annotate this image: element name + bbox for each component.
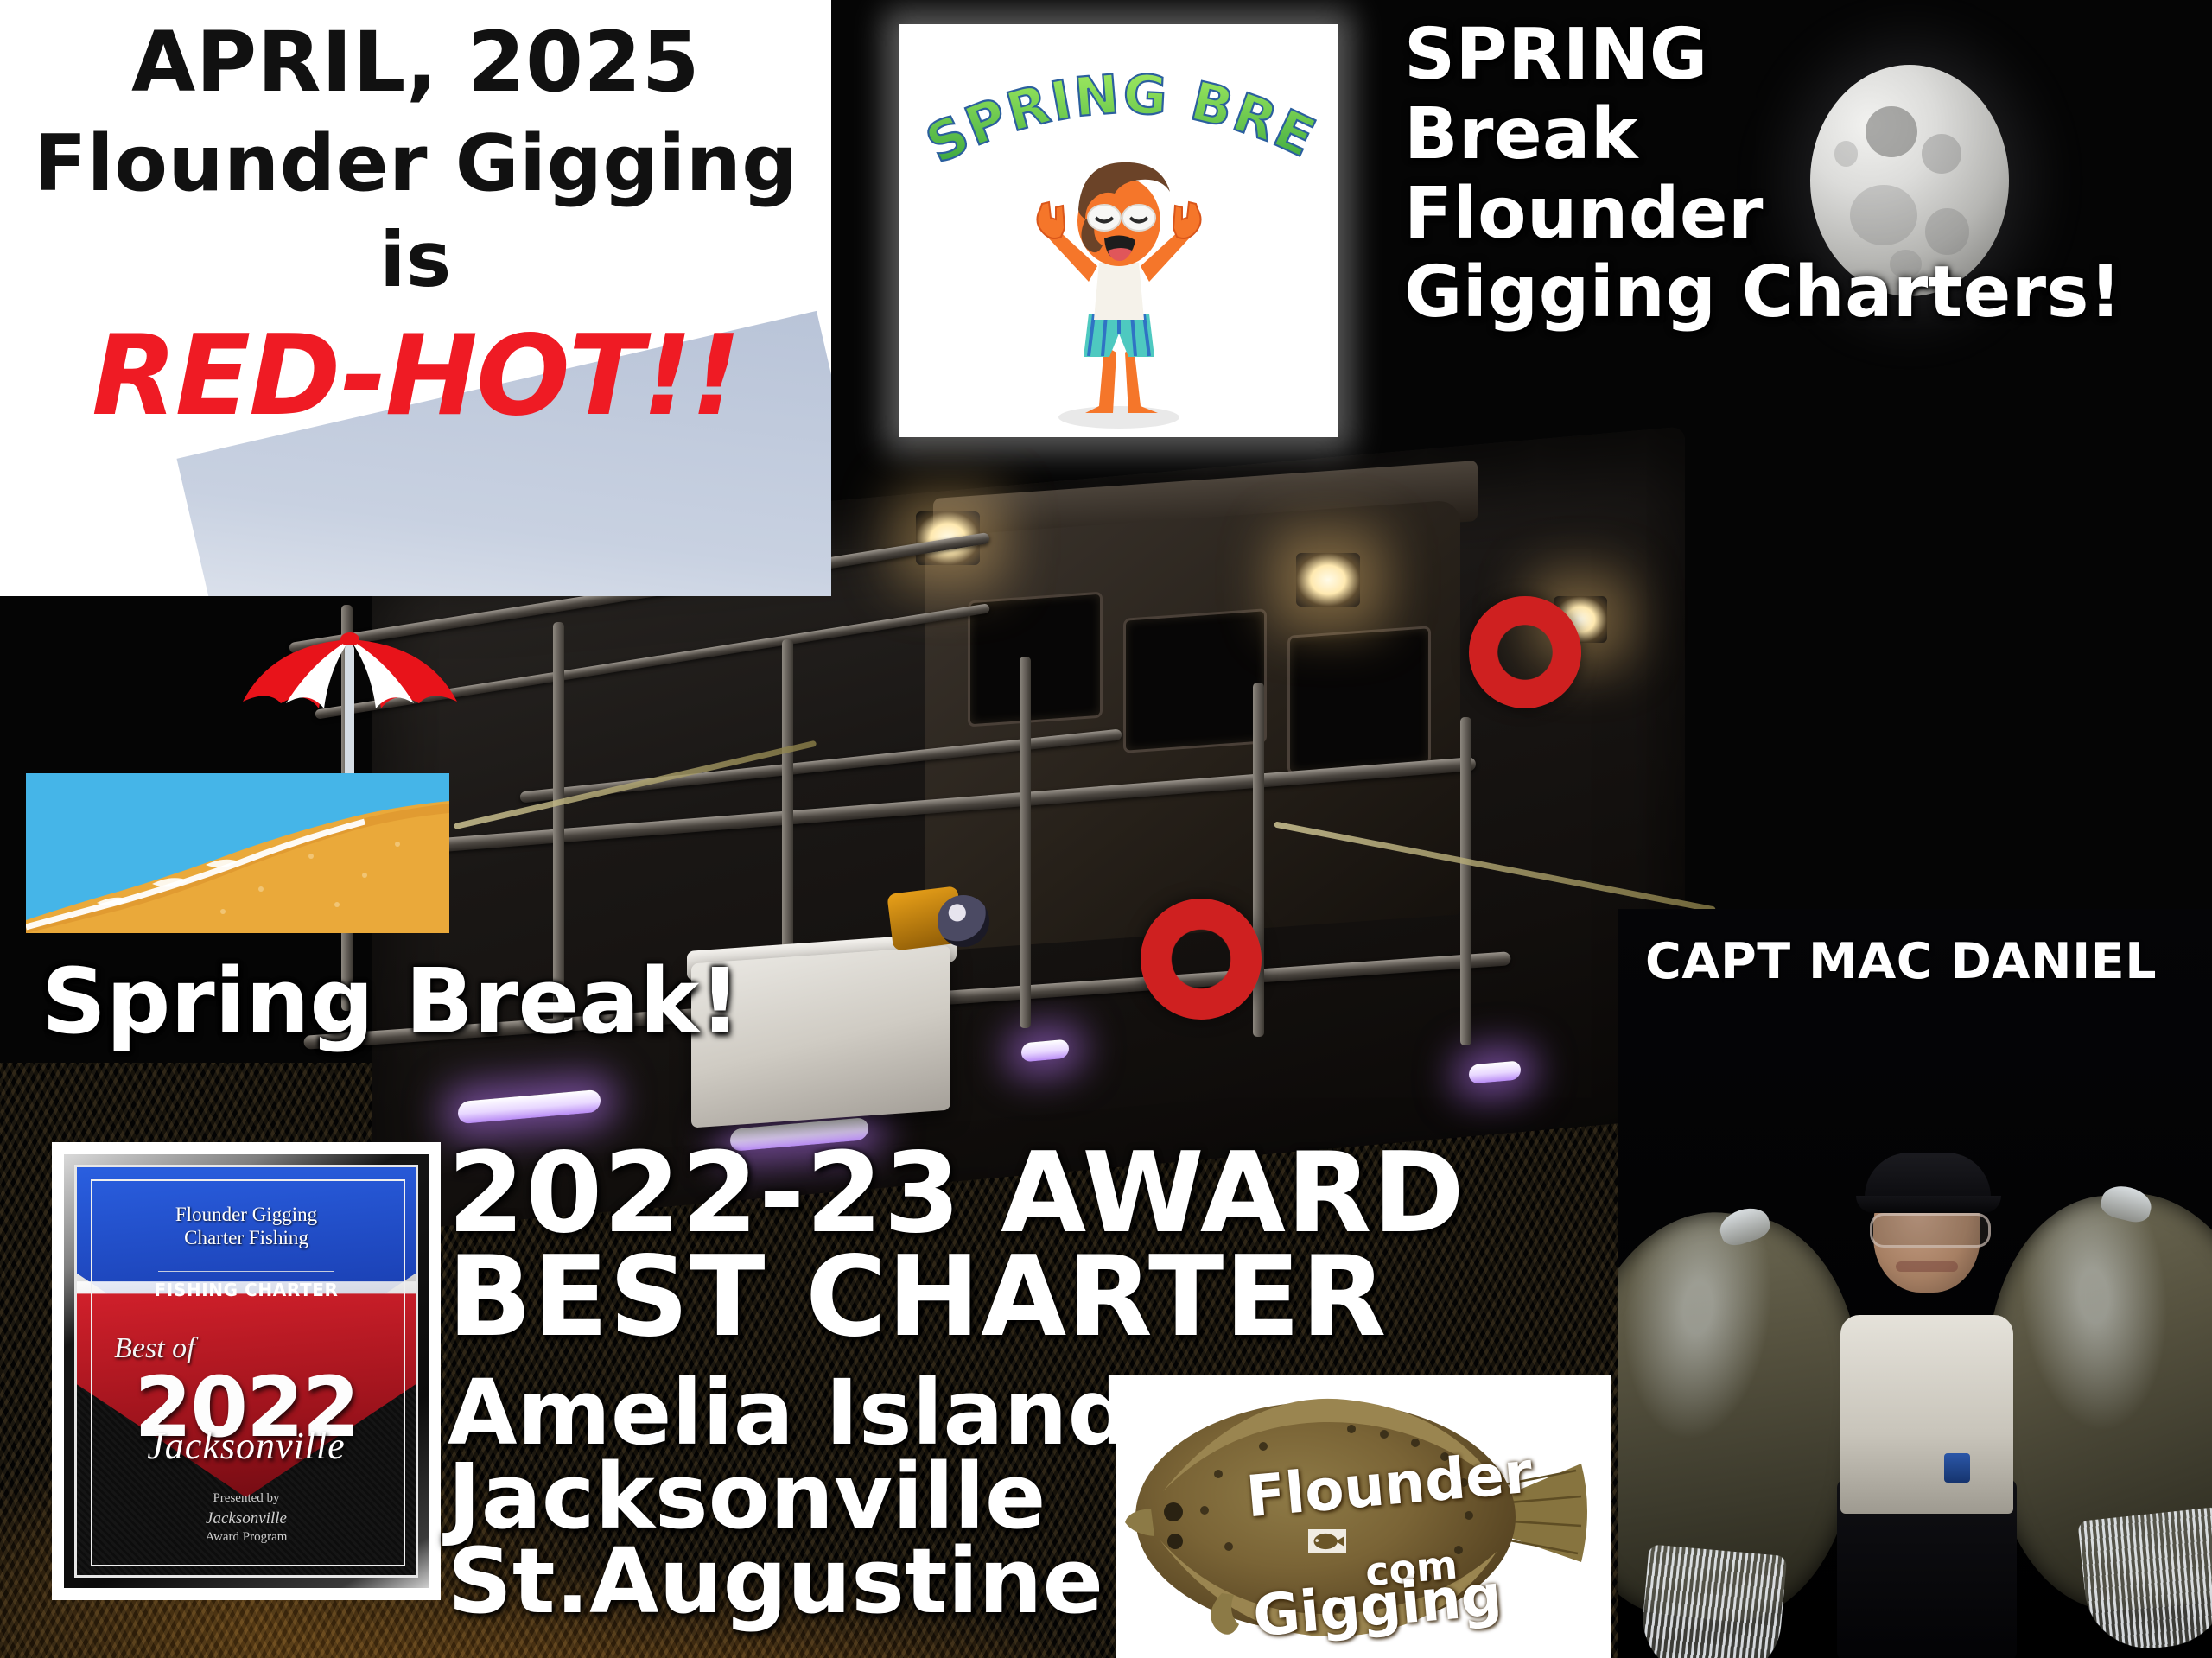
rail-post: [1460, 717, 1471, 1045]
captain-smile: [1896, 1261, 1958, 1272]
spring-break-clipart-box: SPRING BREAK: [899, 24, 1338, 437]
flounder-gigging-logo[interactable]: Flounder com Gigging: [1116, 1375, 1611, 1658]
headline-line-2: Break: [1404, 95, 2190, 175]
bottom-headline-line-2: BEST CHARTER: [448, 1246, 1675, 1350]
award-plaque: Flounder Gigging Charter Fishing FISHING…: [52, 1142, 441, 1600]
plaque-presented-by: Presented by Jacksonville Award Program: [77, 1490, 416, 1547]
fishing-reel-spool: [938, 895, 989, 947]
captain-shirt: [1840, 1315, 2013, 1514]
captain-shirt-logo: [1944, 1453, 1970, 1483]
plaque-presented-city: Jacksonville: [77, 1508, 416, 1529]
cabin-window: [1287, 626, 1431, 775]
life-ring: [1141, 899, 1262, 1020]
plaque-face: Flounder Gigging Charter Fishing FISHING…: [74, 1165, 418, 1578]
plaque-title-line-2: Charter Fishing: [77, 1227, 416, 1250]
beach-emoji-icon: [26, 773, 449, 933]
rail-post: [1020, 657, 1031, 1028]
headline-line-4: Gigging Charters!: [1404, 253, 2190, 333]
cabin-window: [1123, 608, 1267, 753]
announcement-panel: APRIL, 2025 Flounder Gigging is RED-HOT!…: [0, 0, 831, 596]
plaque-divider: [158, 1271, 334, 1272]
life-ring: [1469, 596, 1581, 708]
announcement-line-4-red-hot: RED-HOT!!: [22, 321, 809, 434]
announcement-line-1: APRIL, 2025: [22, 21, 809, 105]
bottom-headline-line-1: 2022-23 AWARD: [448, 1142, 1675, 1246]
plaque-frame: Flounder Gigging Charter Fishing FISHING…: [64, 1154, 429, 1588]
poster-canvas: APRIL, 2025 Flounder Gigging is RED-HOT!…: [0, 0, 2212, 1658]
logo-word-flounder: Flounder: [1243, 1439, 1535, 1531]
logo-wordmark: Flounder com Gigging: [1116, 1375, 1611, 1658]
spring-break-kid-icon: [1002, 154, 1236, 430]
logo-mini-fish-badge: [1308, 1529, 1346, 1553]
plaque-city: Jacksonville: [77, 1424, 416, 1468]
flounder-tail-left: [1638, 1544, 1787, 1658]
plaque-title: Flounder Gigging Charter Fishing: [77, 1204, 416, 1249]
floodlight: [1296, 553, 1360, 607]
announcement-line-2: Flounder Gigging: [22, 124, 809, 204]
main-headline: SPRING Break Flounder Gigging Charters!: [1404, 16, 2190, 333]
plaque-category: FISHING CHARTER: [77, 1280, 416, 1300]
captain-glasses-icon: [1870, 1213, 1991, 1248]
captain-cap-brim: [1856, 1196, 2001, 1213]
mini-flounder-icon: [1310, 1530, 1344, 1553]
plaque-title-line-1: Flounder Gigging: [77, 1204, 416, 1227]
captain-photo-panel: CAPT MAC DANIEL: [1618, 909, 2212, 1658]
plaque-presented-program: Award Program: [206, 1530, 288, 1544]
headline-line-3: Flounder: [1404, 175, 2190, 254]
headline-line-1: SPRING: [1404, 16, 2190, 95]
announcement-line-3: is: [22, 221, 809, 299]
logo-word-gigging: Gigging: [1250, 1562, 1504, 1650]
plaque-presented-label: Presented by: [213, 1491, 279, 1505]
flounder-tail-right: [2077, 1507, 2212, 1655]
spring-break-caption: Spring Break!: [41, 949, 741, 1054]
captain-name-label: CAPT MAC DANIEL: [1645, 933, 2157, 990]
